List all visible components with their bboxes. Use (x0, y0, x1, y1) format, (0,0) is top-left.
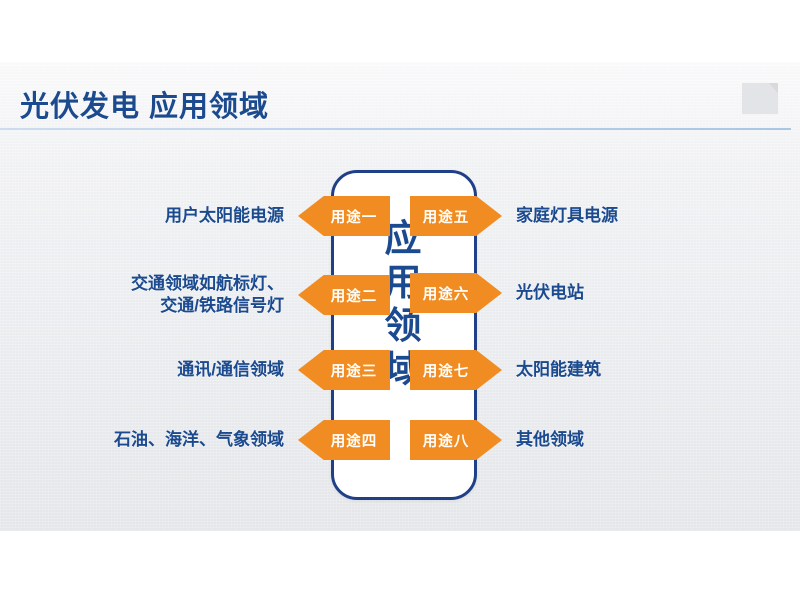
left-arrow-chip-4[interactable]: 用途四 (298, 420, 390, 460)
left-arrow-chip-label-3: 用途三 (331, 360, 378, 381)
list-item[interactable]: 用途五 家庭灯具电源 (420, 196, 800, 236)
left-item-label-3: 通讯/通信领域 (177, 359, 284, 381)
list-item[interactable]: 石油、海洋、气象领域 用途四 (0, 420, 380, 460)
right-arrow-chip-5[interactable]: 用途五 (410, 196, 502, 236)
left-item-label-4: 石油、海洋、气象领域 (114, 429, 284, 451)
list-item[interactable]: 交通领域如航标灯、 交通/铁路信号灯 用途二 (0, 275, 380, 315)
page-title: 光伏发电 应用领域 (20, 83, 269, 125)
list-item[interactable]: 通讯/通信领域 用途三 (0, 350, 380, 390)
list-item[interactable]: 用途七 太阳能建筑 (420, 350, 800, 390)
left-arrow-chip-2[interactable]: 用途二 (298, 275, 390, 315)
left-arrow-chip-label-4: 用途四 (331, 430, 378, 451)
list-item[interactable]: 用途六 光伏电站 (420, 273, 800, 313)
left-arrow-chip-1[interactable]: 用途一 (298, 196, 390, 236)
left-arrow-chip-label-2: 用途二 (331, 285, 378, 306)
slide-canvas: 光伏发电 应用领域 应 用 领 域 用户太阳能电源 用途一 交通领域如航标灯、 … (0, 62, 800, 531)
right-arrow-chip-label-8: 用途八 (423, 430, 470, 451)
right-item-label-7: 太阳能建筑 (516, 359, 601, 381)
title-divider (0, 128, 791, 130)
list-item[interactable]: 用途八 其他领域 (420, 420, 800, 460)
left-arrow-chip-label-1: 用途一 (331, 206, 378, 227)
slide-stage: 光伏发电 应用领域 应 用 领 域 用户太阳能电源 用途一 交通领域如航标灯、 … (0, 0, 800, 600)
right-arrow-chip-label-6: 用途六 (423, 283, 470, 304)
right-item-label-6: 光伏电站 (516, 282, 584, 304)
list-item[interactable]: 用户太阳能电源 用途一 (0, 196, 380, 236)
left-item-label-2: 交通领域如航标灯、 交通/铁路信号灯 (131, 273, 284, 317)
right-item-label-5: 家庭灯具电源 (516, 205, 618, 227)
right-arrow-chip-label-5: 用途五 (423, 206, 470, 227)
right-arrow-chip-8[interactable]: 用途八 (410, 420, 502, 460)
right-item-label-8: 其他领域 (516, 429, 584, 451)
right-arrow-chip-7[interactable]: 用途七 (410, 350, 502, 390)
right-arrow-chip-6[interactable]: 用途六 (410, 273, 502, 313)
folded-corner-decoration-icon (742, 83, 778, 114)
right-arrow-chip-label-7: 用途七 (423, 360, 470, 381)
left-arrow-chip-3[interactable]: 用途三 (298, 350, 390, 390)
left-item-label-1: 用户太阳能电源 (165, 205, 284, 227)
